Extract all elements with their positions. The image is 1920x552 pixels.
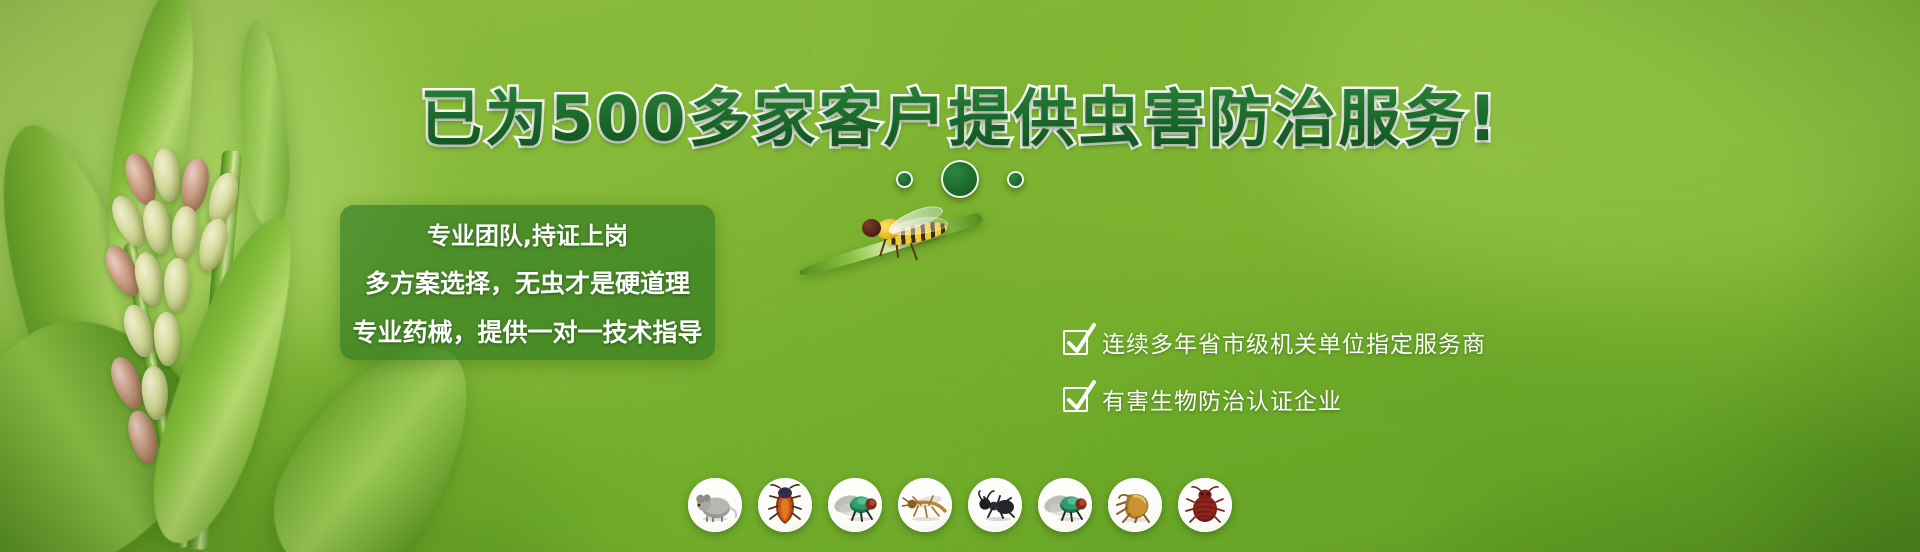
hoverfly-on-grass-blade — [800, 205, 1030, 315]
mosquito-icon[interactable]: 蚊 — [898, 478, 952, 532]
credentials-list: 连续多年省市级机关单位指定服务商 有害生物防治认证企业 — [1063, 325, 1486, 416]
rat-icon[interactable]: 鼠 — [688, 478, 742, 532]
list-item: 连续多年省市级机关单位指定服务商 — [1063, 325, 1486, 359]
selling-point-line-1: 专业团队,持证上岗 — [427, 216, 628, 251]
headline-container: 已为500多家客户提供虫害防治服务! 已为500多家客户提供虫害防治服务! — [0, 68, 1920, 152]
credential-label: 有害生物防治认证企业 — [1102, 382, 1342, 416]
decor-dot-small-right — [1007, 171, 1024, 188]
list-item: 有害生物防治认证企业 — [1063, 382, 1486, 416]
bedbug-icon[interactable]: 臭虫 — [1178, 478, 1232, 532]
page-title: 已为500多家客户提供虫害防治服务! — [420, 68, 1500, 158]
checkbox-check-icon — [1063, 330, 1088, 355]
decor-dot-large-center — [941, 160, 979, 198]
cockroach-icon[interactable]: 蟑螂 — [758, 478, 812, 532]
fly-icon[interactable]: 蝇 — [828, 478, 882, 532]
selling-points-panel: 专业团队,持证上岗 多方案选择，无虫才是硬道理 专业药械，提供一对一技术指导 — [340, 205, 715, 360]
pest-control-hero-banner: 已为500多家客户提供虫害防治服务! 已为500多家客户提供虫害防治服务! 专业… — [0, 0, 1920, 552]
credential-label: 连续多年省市级机关单位指定服务商 — [1102, 325, 1486, 359]
selling-point-line-2: 多方案选择，无虫才是硬道理 — [365, 264, 690, 300]
checkbox-check-icon — [1063, 387, 1088, 412]
selling-point-line-3: 专业药械，提供一对一技术指导 — [353, 313, 703, 349]
pest-type-icon-row: 鼠 蟑螂 — [688, 478, 1232, 532]
decor-dot-small-left — [896, 171, 913, 188]
flea-icon[interactable]: 跳蚤 — [1108, 478, 1162, 532]
decorative-dot-row — [896, 160, 1024, 198]
hoverfly-icon — [860, 205, 970, 261]
fly-icon-2[interactable]: 蝇 — [1038, 478, 1092, 532]
ant-icon[interactable]: 蚂蚁 — [968, 478, 1022, 532]
